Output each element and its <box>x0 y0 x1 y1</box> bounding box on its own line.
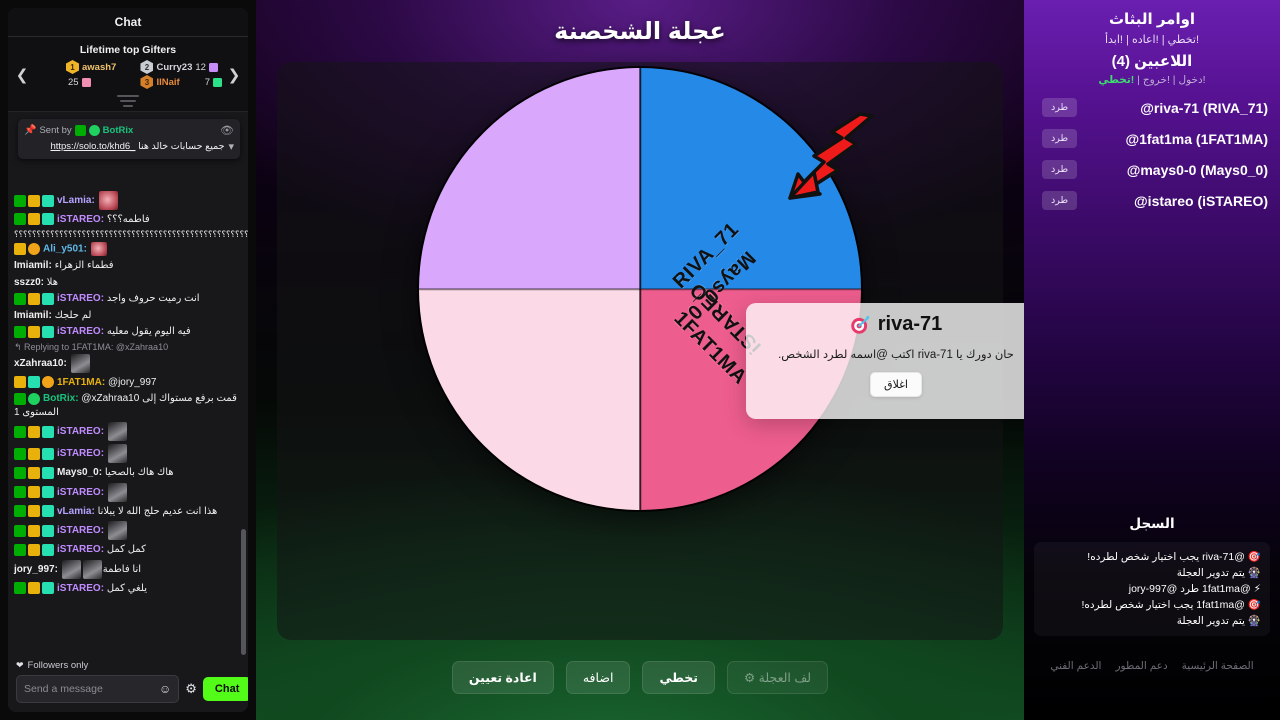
wheel-disc[interactable] <box>419 68 861 510</box>
chevron-down-icon[interactable]: ▾ <box>228 140 234 153</box>
chat-username[interactable]: jory_997: <box>14 564 58 575</box>
winner-header: riva-71 <box>850 313 943 336</box>
badge-group <box>14 426 54 438</box>
moderator-badge-icon <box>75 125 86 136</box>
chat-message[interactable]: iSTAREO: كمل كمل <box>14 542 242 559</box>
badge-group <box>14 505 54 517</box>
chat-message[interactable]: jory_997: انا فاطمة <box>14 559 242 581</box>
kick-button[interactable]: طرد <box>1042 129 1077 148</box>
moderator-badge-icon <box>14 582 26 594</box>
footer-link-home[interactable]: الصفحة الرئيسية <box>1182 660 1254 672</box>
smiley-icon[interactable]: ☺ <box>159 682 171 696</box>
wheel-actions: اعادة تعيين اضافه تخطي لف العجلة ⚙ <box>256 661 1024 694</box>
chat-input[interactable] <box>24 683 159 695</box>
chat-username[interactable]: Mays0_0: <box>57 467 102 478</box>
wheel-segment-mays[interactable] <box>419 289 640 510</box>
player-name: @riva-71 (RIVA_71) <box>1140 100 1268 116</box>
chat-message-text: انا فاطمة <box>103 564 141 575</box>
player-commands-prefix: !دخول | !خروج | <box>1134 74 1205 86</box>
skip-button[interactable]: تخطي <box>642 661 715 694</box>
wheel-icon: 🎡 <box>1248 567 1261 579</box>
pin-icon: 📌 <box>24 125 36 136</box>
log-line: 🎡يتم تدوير العجلة <box>1043 565 1261 581</box>
crown-badge-icon <box>14 376 26 388</box>
chat-message[interactable]: iSTAREO: يلغي كمل <box>14 581 242 598</box>
prime-badge-icon <box>42 195 54 207</box>
gifters-expand-toggle[interactable] <box>8 92 248 111</box>
log-line: ⚡@1fat1ma طرد @jory-997 <box>1043 581 1261 597</box>
gift-box-icon <box>82 78 91 87</box>
gift-box-icon <box>209 63 218 72</box>
badge-group <box>14 243 40 255</box>
moderator-badge-icon <box>14 486 26 498</box>
moderator-badge-icon <box>14 505 26 517</box>
chat-header: Chat <box>8 8 248 37</box>
wheel-segment-istareo[interactable] <box>419 68 640 289</box>
chat-message-text: انت رميت حروف واجد <box>107 293 200 304</box>
verified-badge-icon <box>89 125 100 136</box>
prime-badge-icon <box>42 582 54 594</box>
gear-icon[interactable]: ⚙ <box>185 681 197 697</box>
gifter-count: 7 <box>205 77 210 88</box>
wheel-divider-horizontal <box>419 288 861 290</box>
badge-group <box>14 393 40 405</box>
crown-badge-icon <box>28 448 40 460</box>
pinned-text: جميع حسابات خالد هنا https://solo.to/khd… <box>24 141 224 152</box>
pinned-author: BotRix <box>103 125 134 136</box>
chat-message-text: يلغي كمل <box>107 583 147 594</box>
send-chat-button[interactable]: Chat <box>203 677 248 701</box>
players-list: طرد @riva-71 (RIVA_71) طرد @1fat1ma (1FA… <box>1024 92 1280 216</box>
chat-emote <box>108 521 127 540</box>
crown-badge-icon <box>28 213 40 225</box>
target-icon: 🎯 <box>1248 599 1261 611</box>
wheel-stage: عجلة الشخصنة RIVA_71 iSTAREO Mays0_0 1FA… <box>256 0 1024 720</box>
gifter-entry-1[interactable]: 1 awash7 <box>66 60 134 74</box>
prime-badge-icon <box>42 486 54 498</box>
prime-badge-icon <box>28 376 40 388</box>
pinned-sent-by-label: Sent by <box>39 125 71 136</box>
gifter-entry-2[interactable]: 2 Curry23 12 <box>140 60 222 74</box>
chat-message[interactable]: iSTAREO: <box>14 482 242 504</box>
log-text: يتم تدوير العجلة <box>1177 615 1245 627</box>
chat-message[interactable]: vLamia: <box>14 190 242 212</box>
chat-message[interactable]: Ali_y501: <box>14 241 242 258</box>
player-row: طرد @istareo (iSTAREO) <box>1024 185 1280 216</box>
badge-group <box>14 486 54 498</box>
chat-username[interactable]: iSTAREO: <box>57 583 104 594</box>
founder-badge-icon <box>42 376 54 388</box>
crown-badge-icon <box>28 326 40 338</box>
badge-group <box>14 448 54 460</box>
commands-panel: اوامر البثاث !تخطي | !اعاده | !ابدأ اللا… <box>1024 0 1280 720</box>
gift-box-icon <box>213 78 222 87</box>
chat-emote <box>108 422 127 441</box>
chat-username[interactable]: iSTAREO: <box>57 487 104 498</box>
players-title: اللاعبين (4) <box>1024 46 1280 70</box>
kick-button[interactable]: طرد <box>1042 160 1077 179</box>
kick-button[interactable]: طرد <box>1042 191 1077 210</box>
dart-target-icon <box>850 315 870 335</box>
crown-badge-icon <box>28 195 40 207</box>
badge-group <box>14 195 54 207</box>
chat-message[interactable]: iSTAREO: <box>14 520 242 542</box>
chat-emote <box>62 560 81 579</box>
chat-username[interactable]: vLamia: <box>57 506 95 517</box>
prime-badge-icon <box>42 448 54 460</box>
chat-message[interactable]: iSTAREO: فيه اليوم يقول معليه <box>14 324 242 341</box>
chat-scrollbar[interactable] <box>241 529 246 655</box>
chat-input-wrapper[interactable]: ☺ <box>16 675 179 703</box>
chat-emote <box>108 483 127 502</box>
rank-badge-icon: 1 <box>66 60 79 74</box>
prime-badge-icon <box>42 213 54 225</box>
chat-message[interactable]: Imiamil: فطماء الزهراء <box>14 258 242 275</box>
top-gifters-section: Lifetime top Gifters ❮ 1 awash7 2 Curry2… <box>8 37 248 112</box>
chat-username[interactable]: iSTAREO: <box>57 449 104 460</box>
chat-message-text: @jory_997 <box>108 377 157 388</box>
chat-message-text: هذا انت عديم حلج الله لا يبلانا <box>98 506 218 517</box>
player-commands-list: !دخول | !خروج | !تخطي <box>1024 70 1280 86</box>
spin-wheel[interactable]: RIVA_71 iSTAREO Mays0_0 1FAT1MA <box>419 68 861 510</box>
rank-badge-icon: 2 <box>140 60 153 74</box>
log-box: 🎯@riva-71 يجب اختيار شخص لطرده! 🎡يتم تدو… <box>1034 542 1270 636</box>
gifter-entry-1-count: 25 <box>66 77 134 88</box>
add-button[interactable]: اضافه <box>566 661 631 694</box>
badge-group <box>14 293 54 305</box>
player-row: طرد @mays0-0 (Mays0_0) <box>1024 154 1280 185</box>
prime-badge-icon <box>42 426 54 438</box>
prime-badge-icon <box>42 326 54 338</box>
chat-username[interactable]: 1FAT1MA: <box>57 377 105 388</box>
reply-indicator: ↰ Replying to 1FAT1MA: @xZahraa10 <box>14 341 242 353</box>
player-name: @1fat1ma (1FAT1MA) <box>1125 131 1268 147</box>
chat-message[interactable]: iSTAREO: فاطمه؟؟؟ <box>14 212 242 229</box>
chat-username[interactable]: xZahraa10: <box>14 358 67 369</box>
pinned-message[interactable]: 📌 Sent by BotRix 👁 جميع حسابات خالد هنا … <box>18 119 240 159</box>
verified-badge-icon <box>28 393 40 405</box>
chat-emote <box>99 191 118 210</box>
chat-message[interactable]: iSTAREO: <box>14 421 242 443</box>
moderator-badge-icon <box>14 393 26 405</box>
crown-badge-icon <box>28 467 40 479</box>
chat-emote <box>91 242 107 256</box>
chat-username[interactable]: iSTAREO: <box>57 427 104 438</box>
badge-group <box>14 213 54 225</box>
founder-badge-icon <box>28 243 40 255</box>
chat-username[interactable]: vLamia: <box>57 195 95 206</box>
kick-button[interactable]: طرد <box>1042 98 1077 117</box>
top-gifters-title: Lifetime top Gifters <box>8 40 248 58</box>
spin-wheel-button[interactable]: لف العجلة ⚙ <box>727 661 828 694</box>
crown-badge-icon <box>14 243 26 255</box>
log-line: 🎯@riva-71 يجب اختيار شخص لطرده! <box>1043 549 1261 565</box>
target-icon: 🎯 <box>1248 551 1261 563</box>
chat-message[interactable]: xZahraa10: <box>14 353 242 375</box>
broadcaster-commands-title: اوامر البثاث <box>1024 0 1280 28</box>
broadcaster-commands-list: !تخطي | !اعاده | !ابدأ <box>1024 28 1280 46</box>
chat-emote <box>83 560 102 579</box>
chat-username[interactable]: iSTAREO: <box>57 326 104 337</box>
crown-badge-icon <box>28 544 40 556</box>
prime-badge-icon <box>42 505 54 517</box>
chat-emote <box>71 354 90 373</box>
bolt-icon: ⚡ <box>1254 583 1261 595</box>
moderator-badge-icon <box>14 525 26 537</box>
expand-chevron-icon[interactable] <box>117 93 139 108</box>
log-line: 🎯@1fat1ma يجب اختيار شخص لطرده! <box>1043 597 1261 613</box>
moderator-badge-icon <box>14 448 26 460</box>
prime-badge-icon <box>42 293 54 305</box>
player-commands-highlight: !تخطي <box>1098 74 1134 86</box>
crown-badge-icon <box>28 486 40 498</box>
chat-message[interactable]: vLamia: هذا انت عديم حلج الله لا يبلانا <box>14 504 242 521</box>
log-text: @riva-71 يجب اختيار شخص لطرده! <box>1087 551 1245 563</box>
chat-username[interactable]: Imiamil: <box>14 260 52 271</box>
badge-group <box>14 467 54 479</box>
chat-emote <box>108 444 127 463</box>
chat-message[interactable]: iSTAREO: <box>14 443 242 465</box>
spin-label: لف العجلة <box>759 671 811 685</box>
log-title: السجل <box>1024 516 1280 532</box>
chat-username[interactable]: iSTAREO: <box>57 293 104 304</box>
chat-message-text: هلا <box>47 277 58 288</box>
moderator-badge-icon <box>14 195 26 207</box>
winner-modal: riva-71 حان دورك يا riva-71 اكتب @اسمه ل… <box>746 303 1046 419</box>
pinned-text-arabic: جميع حسابات خالد هنا <box>138 141 224 152</box>
crown-badge-icon <box>28 505 40 517</box>
footer-links: الصفحة الرئيسية دعم المطور الدعم الفني <box>1024 660 1280 672</box>
reset-button[interactable]: اعادة تعيين <box>452 661 554 694</box>
badge-group <box>14 525 54 537</box>
wheel-icon: 🎡 <box>1248 615 1261 627</box>
prime-badge-icon <box>42 544 54 556</box>
chat-message-text: لم حلجك <box>55 310 92 321</box>
chat-message[interactable]: sszz0: هلا <box>14 275 242 292</box>
moderator-badge-icon <box>14 326 26 338</box>
prime-badge-icon <box>42 525 54 537</box>
log-text: يتم تدوير العجلة <box>1177 567 1245 579</box>
chat-composer: ❤ Followers only ☺ ⚙ Chat <box>8 655 248 712</box>
log-text: @1fat1ma يجب اختيار شخص لطرده! <box>1081 599 1244 611</box>
gifters-prev-button[interactable]: ❮ <box>14 66 30 84</box>
followers-only-label: Followers only <box>28 660 89 671</box>
footer-link-tech-support[interactable]: الدعم الفني <box>1050 660 1101 672</box>
player-row: طرد @riva-71 (RIVA_71) <box>1024 92 1280 123</box>
chat-message[interactable]: iSTAREO: انت رميت حروف واجد <box>14 291 242 308</box>
chat-message-text: كمل كمل <box>107 544 146 555</box>
chat-message-text: هاك هاك بالصحيا <box>105 467 174 478</box>
badge-group <box>14 326 54 338</box>
crown-badge-icon <box>28 293 40 305</box>
chat-message: ؟؟؟؟؟؟؟؟؟؟؟؟؟؟؟؟؟؟؟؟؟؟؟؟؟؟؟؟؟؟؟؟؟؟؟؟؟؟؟؟… <box>14 229 242 242</box>
chat-message-text: فطماء الزهراء <box>55 260 114 271</box>
chat-messages-list[interactable]: vLamia: iSTAREO: فاطمه؟؟؟؟؟؟؟؟؟؟؟؟؟؟؟؟؟؟… <box>8 112 248 655</box>
close-modal-button[interactable]: اغلاق <box>870 372 922 397</box>
gifter-name: IINaif <box>156 77 179 88</box>
followers-only-notice: ❤ Followers only <box>16 659 240 675</box>
log-text: @1fat1ma طرد @jory-997 <box>1129 583 1251 595</box>
crown-badge-icon <box>28 582 40 594</box>
player-row: طرد @1fat1ma (1FAT1MA) <box>1024 123 1280 154</box>
gifter-entry-3[interactable]: 3 IINaif 7 <box>140 75 222 89</box>
heart-icon: ❤ <box>16 660 24 671</box>
gifter-count: 12 <box>195 62 206 73</box>
chat-username[interactable]: Imiamil: <box>14 310 52 321</box>
moderator-badge-icon <box>14 213 26 225</box>
winner-message: حان دورك يا riva-71 اكتب @اسمه لطرد الشخ… <box>778 347 1014 361</box>
moderator-badge-icon <box>14 426 26 438</box>
gifter-name: Curry23 <box>156 62 192 73</box>
chat-message[interactable]: 1FAT1MA: @jory_997 <box>14 375 242 392</box>
chat-username[interactable]: iSTAREO: <box>57 526 104 537</box>
badge-group <box>14 582 54 594</box>
gifters-list: 1 awash7 2 Curry23 12 25 <box>34 60 222 89</box>
moderator-badge-icon <box>14 293 26 305</box>
gifter-name: awash7 <box>82 62 116 73</box>
chat-username[interactable]: Ali_y501: <box>43 244 87 255</box>
chat-username[interactable]: iSTAREO: <box>57 214 104 225</box>
chat-message-text: فيه اليوم يقول معليه <box>107 326 191 337</box>
rank-badge-icon: 3 <box>140 75 153 89</box>
badge-group <box>14 544 54 556</box>
page-title: عجلة الشخصنة <box>256 17 1024 46</box>
log-line: 🎡يتم تدوير العجلة <box>1043 613 1261 629</box>
chat-message[interactable]: BotRix: @xZahraa10 قمت برفع مستواك إلى ا… <box>14 391 242 421</box>
footer-link-dev-support[interactable]: دعم المطور <box>1115 660 1167 672</box>
moderator-badge-icon <box>14 467 26 479</box>
gifters-next-button[interactable]: ❯ <box>226 66 242 84</box>
chat-username[interactable]: sszz0: <box>14 277 44 288</box>
gifter-count: 25 <box>66 77 79 88</box>
prime-badge-icon <box>42 467 54 479</box>
player-name: @mays0-0 (Mays0_0) <box>1127 162 1268 178</box>
chat-username[interactable]: BotRix: <box>43 393 79 404</box>
pinned-link[interactable]: https://solo.to/khd6_ <box>50 141 135 152</box>
chat-message[interactable]: Mays0_0: هاك هاك بالصحيا <box>14 465 242 482</box>
chat-message-text: فاطمه؟؟؟ <box>107 214 150 225</box>
winner-name: riva-71 <box>878 313 943 336</box>
crown-badge-icon <box>28 525 40 537</box>
crown-badge-icon <box>28 426 40 438</box>
player-name: @istareo (iSTAREO) <box>1134 193 1268 209</box>
moderator-badge-icon <box>14 544 26 556</box>
gear-icon: ⚙ <box>744 671 755 685</box>
chat-message[interactable]: Imiamil: لم حلجك <box>14 308 242 325</box>
chat-panel: Chat Lifetime top Gifters ❮ 1 awash7 2 C… <box>0 0 256 720</box>
chat-username[interactable]: iSTAREO: <box>57 544 104 555</box>
eye-off-icon[interactable]: 👁 <box>220 124 234 137</box>
badge-group <box>14 376 54 388</box>
